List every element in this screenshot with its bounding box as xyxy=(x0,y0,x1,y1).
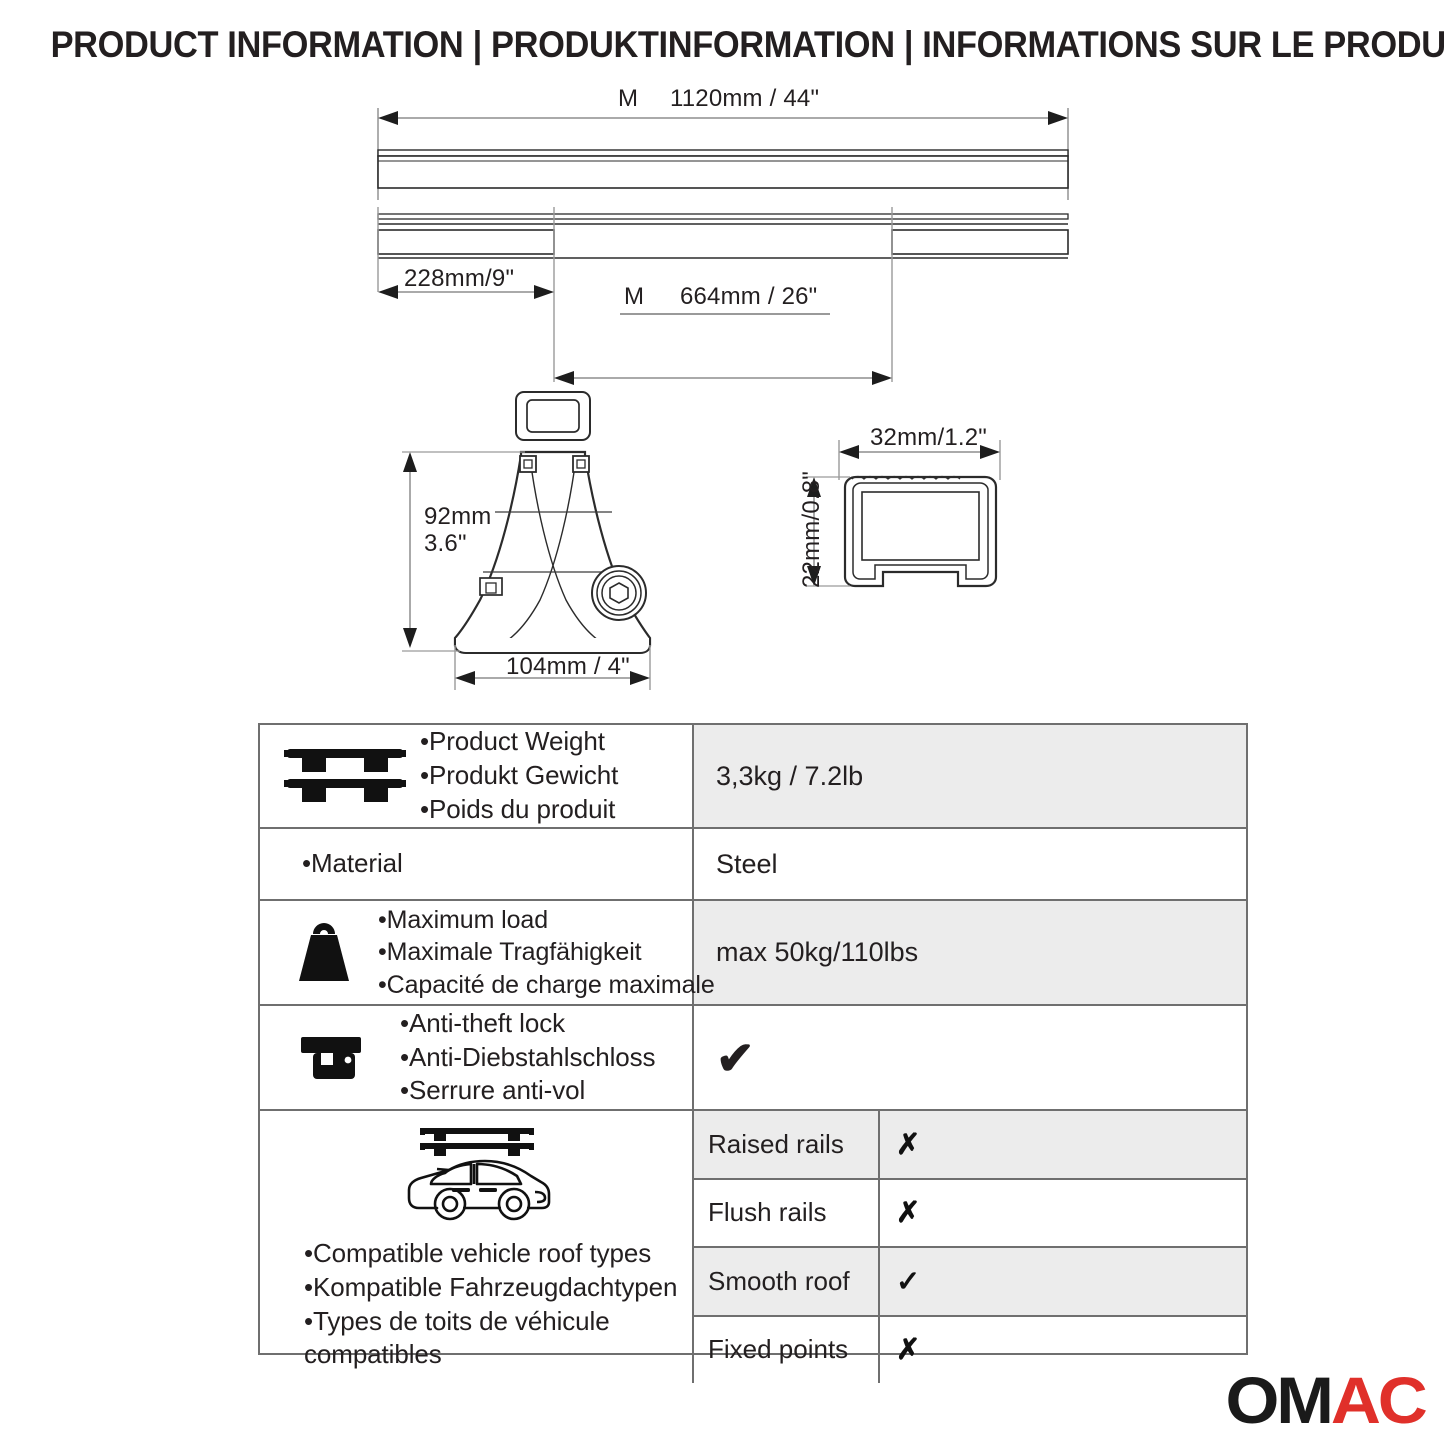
spec-label-en: •Maximum load xyxy=(378,904,715,937)
spec-label-cell: •Product Weight •Produkt Gewicht •Poids … xyxy=(260,725,694,827)
roof-type-row: Raised rails ✗ xyxy=(694,1111,1246,1180)
table-row: •Material Steel xyxy=(260,829,1246,901)
spec-label-fr: •Capacité de charge maximale xyxy=(378,969,715,1002)
lock-icon-svg xyxy=(299,1035,371,1081)
spec-label-en: •Material xyxy=(302,847,403,881)
roof-rack-icon-svg xyxy=(282,745,408,807)
roof-type-mark: ✗ xyxy=(880,1317,1246,1384)
dim-bar-length-value: 1120mm / 44" xyxy=(670,85,819,112)
roof-type-name: Fixed points xyxy=(694,1317,880,1384)
omac-logo-ac: AC xyxy=(1331,1363,1425,1437)
check-mark-icon: ✔ xyxy=(716,1035,755,1081)
dim-end-offset: 228mm/9" xyxy=(404,265,514,293)
dim-foot-height: 92mm xyxy=(424,503,491,531)
dim-spread: M 664mm / 26" xyxy=(624,283,817,311)
vehicle-label-en: •Compatible vehicle roof types xyxy=(304,1237,677,1271)
dim-spread-value: 664mm / 26" xyxy=(680,283,817,310)
spec-value-cell: Steel xyxy=(694,829,1246,899)
dim-bar-length: M 1120mm / 44" xyxy=(618,85,819,113)
spec-label-fr: •Serrure anti-vol xyxy=(400,1074,655,1108)
roof-types-subtable: Raised rails ✗ Flush rails ✗ Smooth roof… xyxy=(694,1111,1246,1383)
table-row: •Anti-theft lock •Anti-Diebstahlschloss … xyxy=(260,1006,1246,1111)
spec-value-cell: ✔ xyxy=(694,1006,1246,1109)
weight-icon-svg xyxy=(293,921,355,985)
dim-section-width: 32mm/1.2" xyxy=(870,424,987,452)
vehicle-label-fr: •Types de toits de véhicule compatibles xyxy=(304,1305,674,1373)
dim-foot-width: 104mm / 4" xyxy=(506,653,630,681)
omac-logo: OMAC xyxy=(1226,1367,1425,1433)
roof-type-row: Flush rails ✗ xyxy=(694,1180,1246,1249)
table-row: •Product Weight •Produkt Gewicht •Poids … xyxy=(260,725,1246,829)
spec-label-cell: •Anti-theft lock •Anti-Diebstahlschloss … xyxy=(260,1006,694,1109)
spec-label-text: •Product Weight •Produkt Gewicht •Poids … xyxy=(420,725,618,826)
spec-label-de: •Maximale Tragfähigkeit xyxy=(378,936,715,969)
spec-label-text: •Maximum load •Maximale Tragfähigkeit •C… xyxy=(378,904,715,1002)
dim-foot-height-inches: 3.6" xyxy=(424,530,467,558)
roof-type-name: Smooth roof xyxy=(694,1248,880,1315)
car-with-rack-icon xyxy=(401,1122,555,1231)
roof-type-mark: ✗ xyxy=(880,1111,1246,1178)
spec-label-fr: •Poids du produit xyxy=(420,793,618,827)
roof-type-mark: ✗ xyxy=(880,1180,1246,1247)
vehicle-label-text: •Compatible vehicle roof types •Kompatib… xyxy=(270,1237,677,1372)
spec-value-cell: max 50kg/110lbs xyxy=(694,901,1246,1004)
dim-section-height: 22mm/0.8" xyxy=(798,471,826,588)
car-with-rack-icon-svg xyxy=(401,1122,555,1226)
table-row-vehicle: •Compatible vehicle roof types •Kompatib… xyxy=(260,1111,1246,1383)
vehicle-label-de: •Kompatible Fahrzeugdachtypen xyxy=(304,1271,677,1305)
spec-label-en: •Anti-theft lock xyxy=(400,1007,655,1041)
technical-drawing: M 1120mm / 44" 228mm/9" M 664mm / 26" 92… xyxy=(0,0,1445,720)
spec-label-de: •Anti-Diebstahlschloss xyxy=(400,1041,655,1075)
spec-value-cell: 3,3kg / 7.2lb xyxy=(694,725,1246,827)
lock-icon xyxy=(270,1035,400,1081)
roof-type-name: Flush rails xyxy=(694,1180,880,1247)
spec-label-en: •Product Weight xyxy=(420,725,618,759)
spec-label-text: •Material xyxy=(270,847,403,881)
roof-type-name: Raised rails xyxy=(694,1111,880,1178)
roof-type-row: Smooth roof ✓ xyxy=(694,1248,1246,1317)
roof-type-mark: ✓ xyxy=(880,1248,1246,1315)
omac-logo-om: OM xyxy=(1226,1363,1331,1437)
spec-label-cell: •Material xyxy=(260,829,694,899)
product-information-page: PRODUCT INFORMATION | PRODUKTINFORMATION… xyxy=(0,0,1445,1445)
spec-label-text: •Anti-theft lock •Anti-Diebstahlschloss … xyxy=(400,1007,655,1108)
spec-table: •Product Weight •Produkt Gewicht •Poids … xyxy=(258,723,1248,1355)
spec-label-de: •Produkt Gewicht xyxy=(420,759,618,793)
spec-label-cell: •Maximum load •Maximale Tragfähigkeit •C… xyxy=(260,901,694,1004)
roof-type-row: Fixed points ✗ xyxy=(694,1317,1246,1384)
roof-rack-icon xyxy=(270,745,420,807)
table-row: •Maximum load •Maximale Tragfähigkeit •C… xyxy=(260,901,1246,1006)
dim-spread-prefix: M xyxy=(624,283,644,310)
vehicle-label-cell: •Compatible vehicle roof types •Kompatib… xyxy=(260,1111,694,1383)
dim-bar-length-prefix: M xyxy=(618,85,638,112)
weight-icon xyxy=(270,921,378,985)
